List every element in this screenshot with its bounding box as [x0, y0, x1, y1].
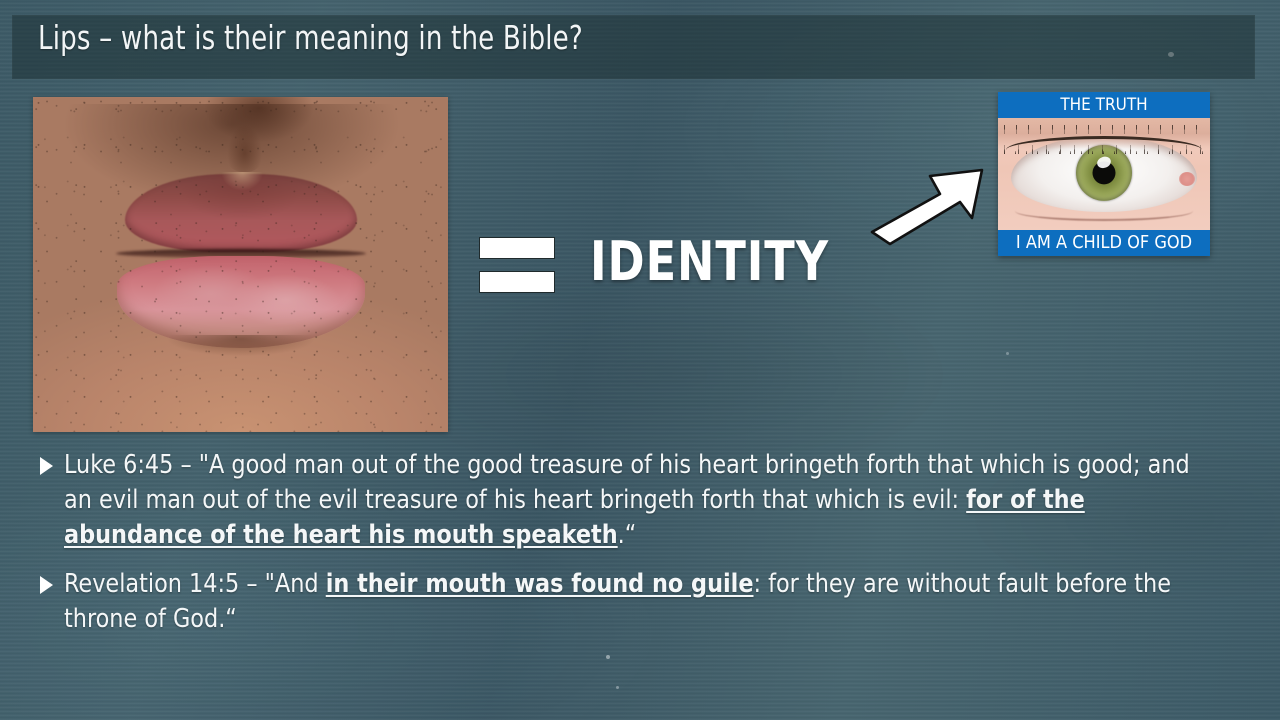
- background-speck: [1006, 352, 1009, 355]
- background-speck: [606, 655, 610, 659]
- truth-eye-card-bottom-label: I AM A CHILD OF GOD: [998, 230, 1210, 256]
- background-speck: [616, 686, 619, 689]
- equals-icon-bar-bottom: [479, 271, 555, 293]
- equals-icon: [479, 237, 555, 293]
- eye-photo-lower-lid: [1015, 211, 1193, 221]
- eye-photo-caruncle: [1179, 172, 1195, 186]
- scripture-revelation-14-5: Revelation 14:5 – "And in their mouth wa…: [64, 567, 1220, 637]
- list-item: Revelation 14:5 – "And in their mouth wa…: [38, 567, 1250, 637]
- equals-icon-bar-top: [479, 237, 555, 259]
- lips-photo: [33, 97, 448, 432]
- triangle-bullet-icon: [40, 576, 53, 594]
- scripture-luke-6-45: Luke 6:45 – "A good man out of the good …: [64, 448, 1220, 553]
- truth-eye-card-top-label: THE TRUTH: [998, 92, 1210, 118]
- arrow-icon: [868, 160, 988, 248]
- lips-photo-stubble-texture: [33, 97, 448, 432]
- eye-photo-eyelashes: [1004, 125, 1203, 154]
- presentation-slide: Lips – what is their meaning in the Bibl…: [0, 0, 1280, 720]
- list-item: Luke 6:45 – "A good man out of the good …: [38, 448, 1250, 553]
- identity-label: IDENTITY: [590, 230, 829, 293]
- truth-eye-card: THE TRUTH I AM A CHILD OF GOD: [998, 92, 1210, 256]
- page-title: Lips – what is their meaning in the Bibl…: [38, 18, 583, 57]
- triangle-bullet-icon: [40, 457, 53, 475]
- eye-photo: [998, 118, 1210, 230]
- scripture-list: Luke 6:45 – "A good man out of the good …: [38, 448, 1250, 651]
